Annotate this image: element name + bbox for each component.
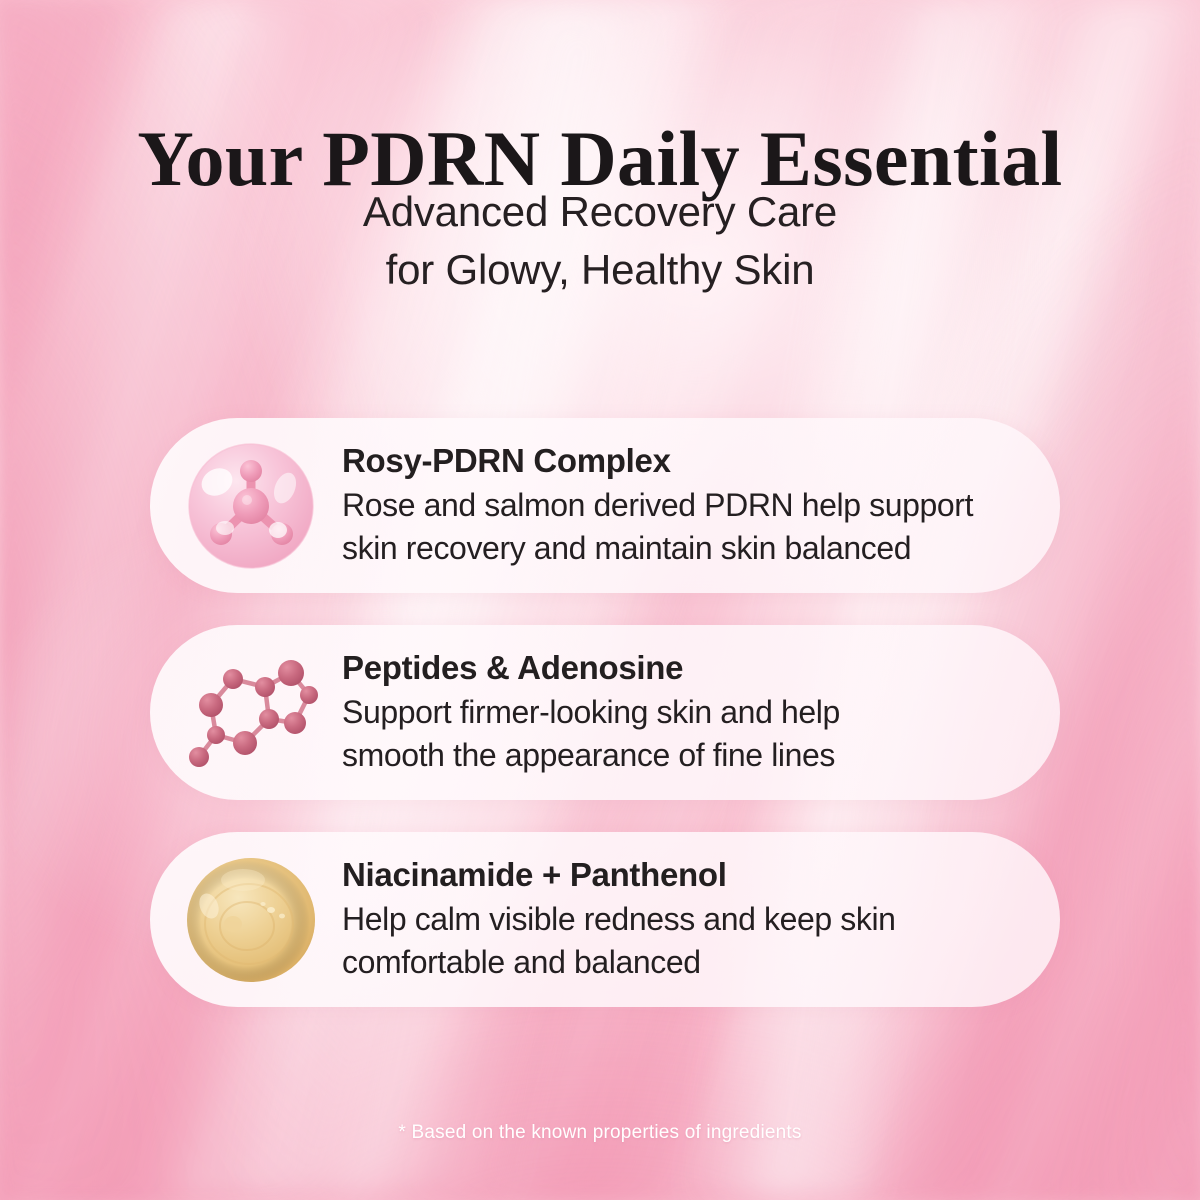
ingredient-disclaimer-footnote: * Based on the known properties of ingre… [0,1122,1200,1144]
benefit-card-title: Peptides & Adenosine [342,649,1036,687]
benefit-card-rosy-pdrn-complex: Rosy-PDRN Complex Rose and salmon derive… [150,418,1060,593]
page-subtitle-line-2: for Glowy, Healthy Skin [0,241,1200,299]
benefit-card-text: Niacinamide + Panthenol Help calm visibl… [326,856,1060,983]
benefit-card-description-line-2: comfortable and balanced [342,941,1036,984]
product-benefits-poster: Your PDRN Daily Essential Advanced Recov… [0,0,1200,1200]
page-subtitle: Advanced Recovery Care for Glowy, Health… [0,183,1200,299]
benefit-card-list: Rosy-PDRN Complex Rose and salmon derive… [150,418,1060,1007]
pdrn-droplet-molecule-icon [176,431,326,581]
benefit-card-description: Help calm visible redness and keep skin … [342,898,1036,983]
benefit-card-description-line-1: Help calm visible redness and keep skin [342,898,1036,941]
benefit-card-description-line-1: Rose and salmon derived PDRN help suppor… [342,484,1036,527]
benefit-card-description: Support firmer-looking skin and help smo… [342,691,1036,776]
benefit-card-title: Rosy-PDRN Complex [342,442,1036,480]
page-subtitle-line-1: Advanced Recovery Care [0,183,1200,241]
benefit-card-title: Niacinamide + Panthenol [342,856,1036,894]
benefit-card-description-line-2: smooth the appearance of fine lines [342,734,1036,777]
poster-content: Your PDRN Daily Essential Advanced Recov… [0,0,1200,1200]
benefit-card-description: Rose and salmon derived PDRN help suppor… [342,484,1036,569]
benefit-card-text: Rosy-PDRN Complex Rose and salmon derive… [326,442,1060,569]
benefit-card-description-line-1: Support firmer-looking skin and help [342,691,1036,734]
benefit-card-niacinamide-panthenol: Niacinamide + Panthenol Help calm visibl… [150,832,1060,1007]
benefit-card-peptides-adenosine: Peptides & Adenosine Support firmer-look… [150,625,1060,800]
golden-serum-drop-icon [176,845,326,995]
benefit-card-description-line-2: skin recovery and maintain skin balanced [342,527,1036,570]
benefit-card-text: Peptides & Adenosine Support firmer-look… [326,649,1060,776]
peptide-adenosine-molecule-icon [176,638,326,788]
